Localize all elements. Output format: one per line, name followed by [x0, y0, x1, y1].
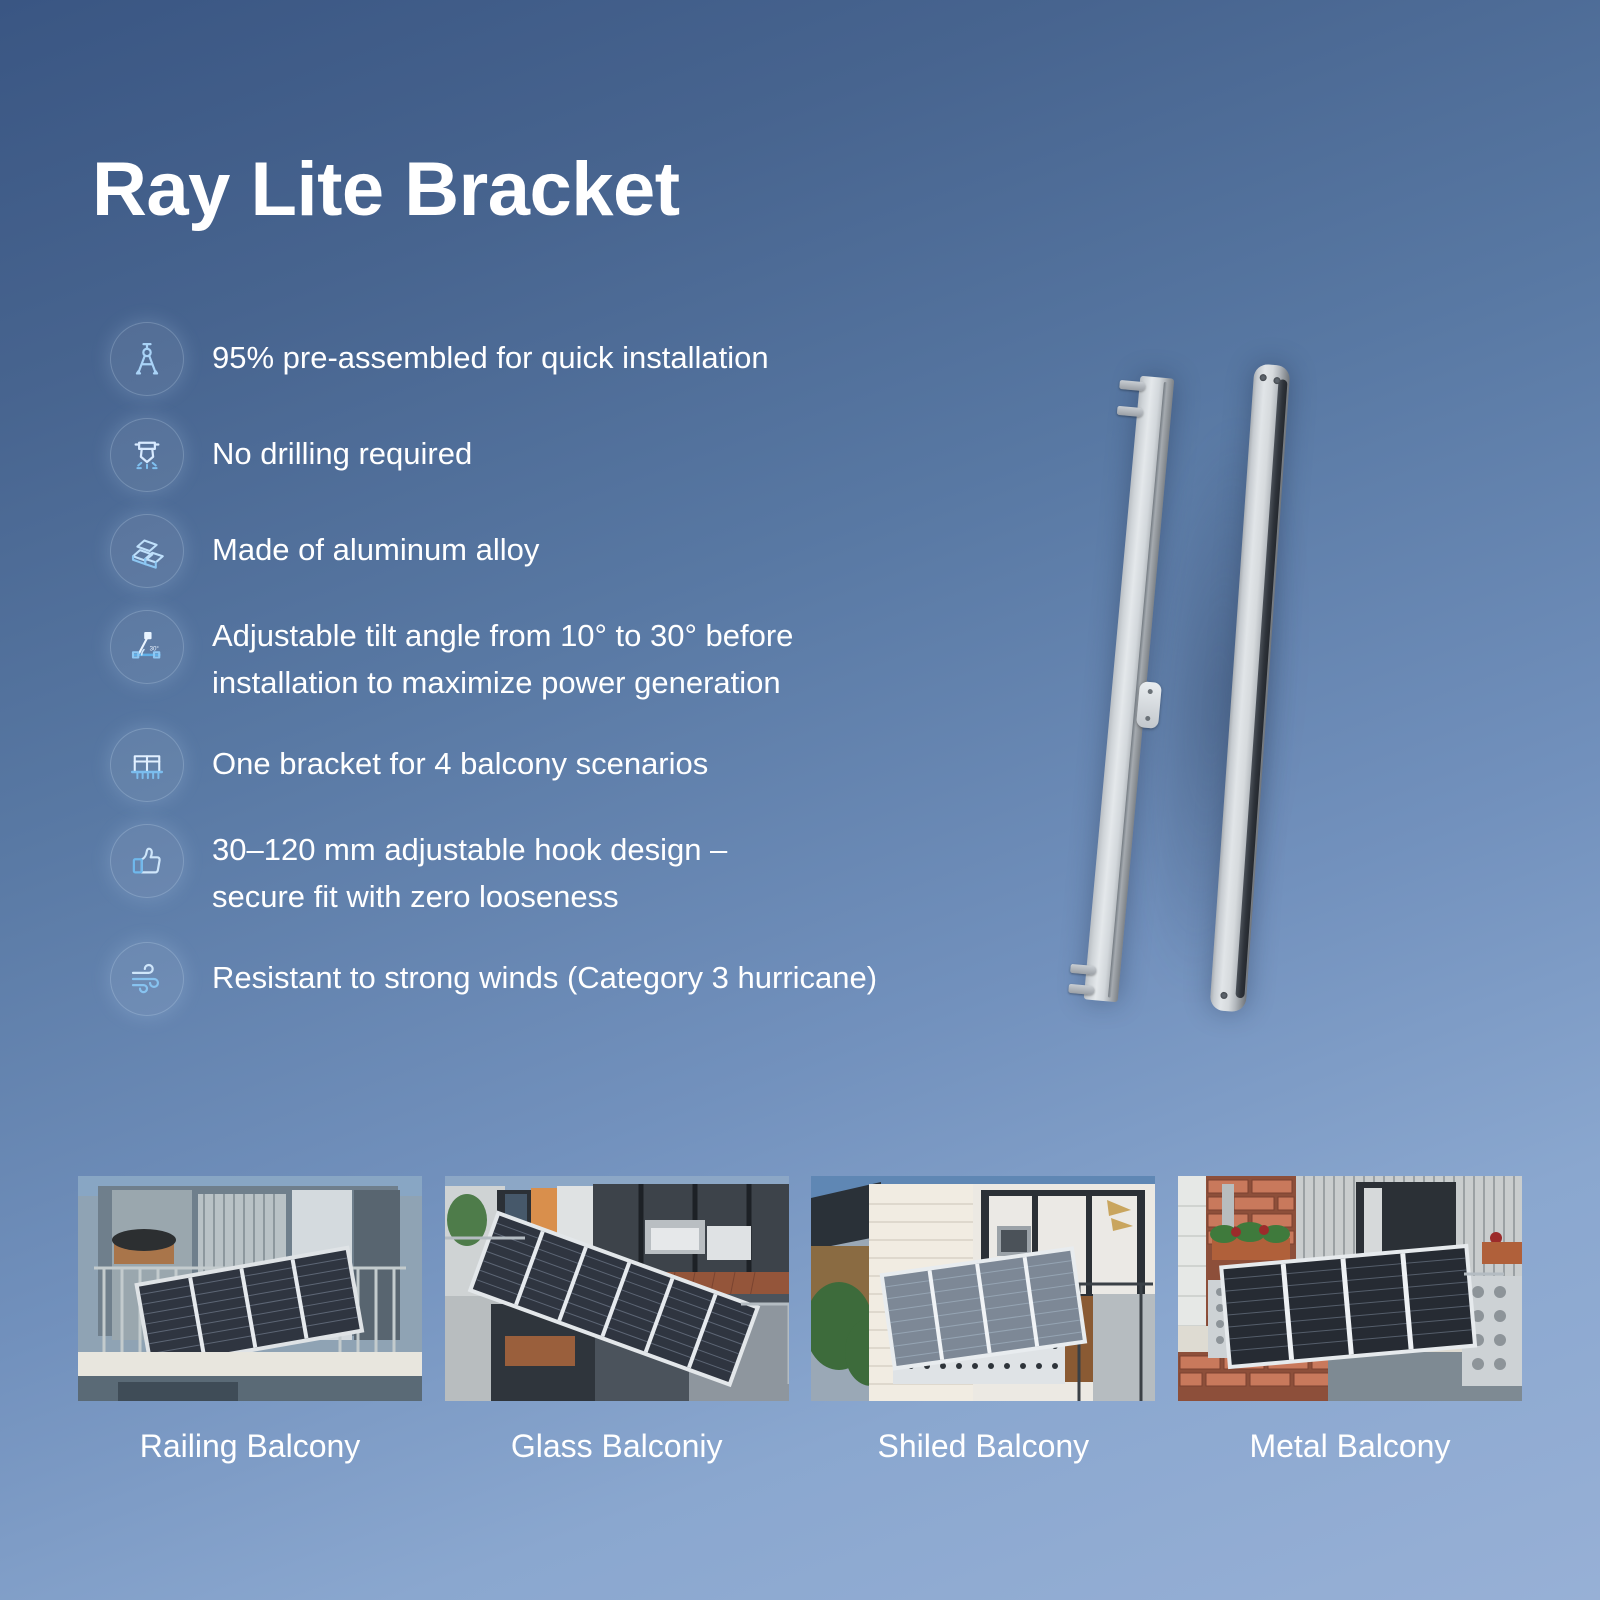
- feature-item-label: 95% pre-assembled for quick installation: [212, 322, 1040, 381]
- feature-item-adjustable-hook: 30–120 mm adjustable hook design – secur…: [110, 824, 1040, 924]
- page-title: Ray Lite Bracket: [92, 152, 680, 228]
- scenario-card-railing[interactable]: Railing Balcony: [78, 1176, 422, 1464]
- hook-tab-bottom-2: [1068, 984, 1095, 995]
- thumbs-up-icon: [110, 824, 184, 898]
- feature-item-pre-assembled: 95% pre-assembled for quick installation: [110, 322, 1040, 396]
- feature-item-aluminum-alloy: Made of aluminum alloy: [110, 514, 1040, 588]
- scenario-card-shield[interactable]: Shiled Balcony: [811, 1176, 1155, 1464]
- feature-item-label: 30–120 mm adjustable hook design – secur…: [212, 824, 1040, 920]
- scenario-gallery: Railing Balcony: [78, 1176, 1522, 1464]
- feature-item-label: No drilling required: [212, 418, 1040, 477]
- metal-balcony-photo[interactable]: [1178, 1176, 1522, 1401]
- balcony-railing-icon: [110, 728, 184, 802]
- tilt-angle-icon: 30°: [110, 610, 184, 684]
- hook-tab-top-1: [1119, 380, 1146, 391]
- wind-icon: [110, 942, 184, 1016]
- drill-no-drilling-icon: [110, 418, 184, 492]
- feature-item-label: Adjustable tilt angle from 10° to 30° be…: [212, 610, 1040, 706]
- bracket-clamp: [1136, 681, 1162, 729]
- railing-balcony-photo[interactable]: [78, 1176, 422, 1401]
- scenario-caption: Shiled Balcony: [811, 1429, 1155, 1464]
- hook-tab-top-2: [1117, 406, 1144, 417]
- feature-item-balcony-scenarios: One bracket for 4 balcony scenarios: [110, 728, 1040, 802]
- scenario-caption: Glass Balconiy: [445, 1429, 789, 1464]
- feature-item-label: Made of aluminum alloy: [212, 514, 1040, 573]
- drafting-compass-icon: [110, 322, 184, 396]
- product-image: [1020, 360, 1380, 1040]
- feature-item-label: One bracket for 4 balcony scenarios: [212, 728, 1040, 787]
- feature-item-no-drilling: No drilling required: [110, 418, 1040, 492]
- svg-text:30°: 30°: [150, 646, 160, 653]
- glass-balcony-photo[interactable]: [445, 1176, 789, 1401]
- feature-item-label: Resistant to strong winds (Category 3 hu…: [212, 942, 1040, 1001]
- hook-tab-bottom-1: [1070, 964, 1097, 975]
- feature-item-tilt-angle: 30° Adjustable tilt angle from 10° to 30…: [110, 610, 1040, 710]
- feature-list: 95% pre-assembled for quick installation: [110, 322, 1040, 1038]
- scenario-card-glass[interactable]: Glass Balconiy: [445, 1176, 789, 1464]
- scenario-caption: Railing Balcony: [78, 1429, 422, 1464]
- feature-item-wind-resistant: Resistant to strong winds (Category 3 hu…: [110, 942, 1040, 1016]
- aluminum-ingots-icon: [110, 514, 184, 588]
- product-infographic: Ray Lite Bracket 95% pre-assembled for q…: [0, 0, 1600, 1600]
- scenario-caption: Metal Balcony: [1178, 1429, 1522, 1464]
- shield-balcony-photo[interactable]: [811, 1176, 1155, 1401]
- scenario-card-metal[interactable]: Metal Balcony: [1178, 1176, 1522, 1464]
